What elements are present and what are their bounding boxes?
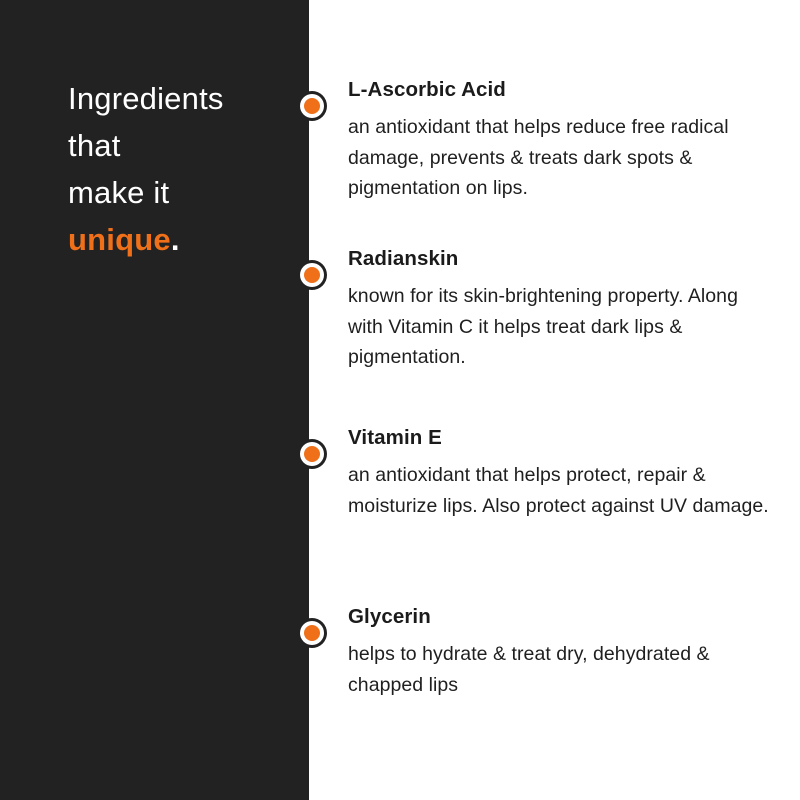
bullet-dot-icon <box>297 260 327 290</box>
ingredient-title: Radianskin <box>348 247 778 271</box>
ingredient-description: an antioxidant that helps protect, repai… <box>348 460 778 521</box>
ingredient-description: helps to hydrate & treat dry, dehydrated… <box>348 639 778 700</box>
bullet-dot-icon <box>297 91 327 121</box>
ingredient-title: Vitamin E <box>348 426 778 450</box>
ingredients-infographic: Ingredients that make it unique. L-Ascor… <box>0 0 800 800</box>
bullet-dot-icon <box>297 618 327 648</box>
bullet-dot-icon <box>297 439 327 469</box>
ingredient-list: L-Ascorbic Acid an antioxidant that help… <box>0 0 800 800</box>
ingredient-description: an antioxidant that helps reduce free ra… <box>348 112 778 204</box>
ingredient-title: L-Ascorbic Acid <box>348 78 778 102</box>
ingredient-title: Glycerin <box>348 605 778 629</box>
ingredient-description: known for its skin-brightening property.… <box>348 281 778 373</box>
